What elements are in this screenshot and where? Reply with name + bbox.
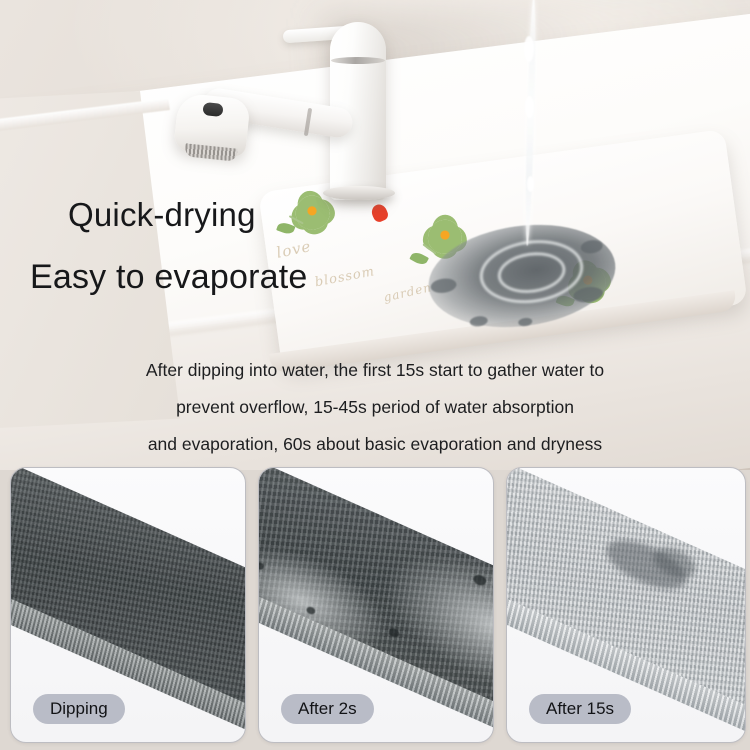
headline-secondary: Easy to evaporate	[30, 258, 307, 297]
drying-stage-panels: Dipping After 2s	[0, 467, 750, 750]
description-line-2: prevent overflow, 15-45s period of water…	[0, 389, 750, 426]
description-line-3: and evaporation, 60s about basic evapora…	[0, 426, 750, 463]
faucet-base-ring	[323, 186, 395, 200]
panel-caption: After 15s	[529, 694, 631, 724]
panel-caption: Dipping	[33, 694, 125, 724]
sprayer-mode-button[interactable]	[202, 102, 223, 117]
panel-caption: After 2s	[281, 694, 374, 724]
hero-photo-scene: love blossom garden	[0, 0, 750, 470]
description-paragraph: After dipping into water, the first 15s …	[0, 352, 750, 463]
product-infographic: love blossom garden	[0, 0, 750, 750]
stage-panel-after-15s: After 15s	[506, 467, 746, 743]
faucet-body-ring	[331, 57, 385, 64]
headline-primary: Quick-drying	[68, 196, 256, 234]
description-line-1: After dipping into water, the first 15s …	[0, 352, 750, 389]
stage-panel-after-2s: After 2s	[258, 467, 494, 743]
stage-panel-dipping: Dipping	[10, 467, 246, 743]
